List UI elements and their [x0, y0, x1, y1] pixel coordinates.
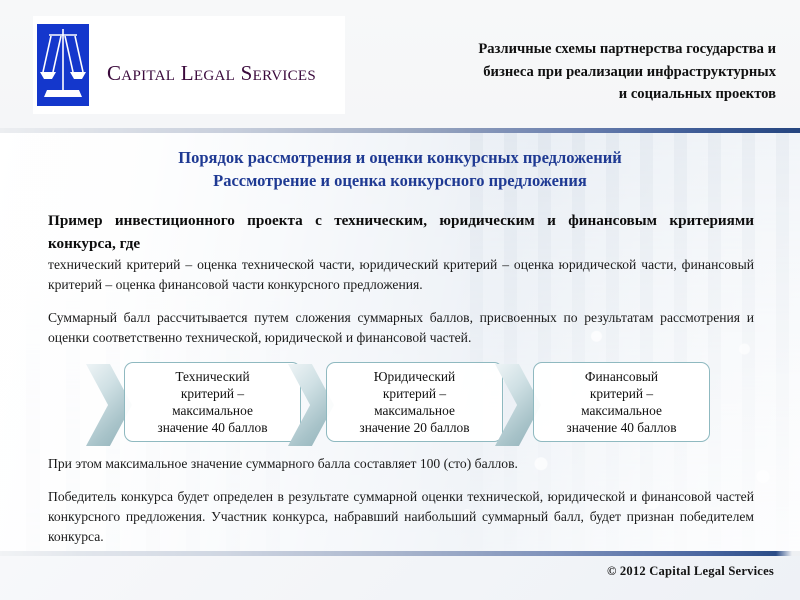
body-text-lower: При этом максимальное значение суммарног…: [48, 454, 754, 546]
criteria-technical-line-2: критерий –: [157, 385, 267, 402]
criteria-legal-line-3: максимальное: [359, 402, 469, 419]
header-subject-title: Различные схемы партнерства государства …: [384, 38, 776, 106]
criteria-legal-line-1: Юридический: [359, 368, 469, 385]
criteria-financial-line-4: значение 40 баллов: [566, 419, 676, 436]
criteria-box-legal-text: Юридический критерий – максимальное знач…: [351, 368, 477, 437]
criteria-financial-line-2: критерий –: [566, 385, 676, 402]
body-text-upper: Пример инвестиционного проекта с техниче…: [48, 210, 754, 347]
criteria-box-financial: Финансовый критерий – максимальное значе…: [533, 362, 710, 442]
scales-of-justice-icon: [37, 24, 89, 106]
criteria-technical-line-1: Технический: [157, 368, 267, 385]
page-title-line-1: Порядок рассмотрения и оценки конкурсных…: [0, 146, 800, 169]
criteria-flow-diagram: Технический критерий – максимальное знач…: [0, 362, 800, 448]
footer-divider: [0, 551, 800, 556]
copyright-notice: © 2012 Capital Legal Services: [607, 564, 774, 579]
header-title-line-2: бизнеса при реализации инфраструктурных: [384, 61, 776, 84]
header-title-line-1: Различные схемы партнерства государства …: [384, 38, 776, 61]
criteria-item-financial: Финансовый критерий – максимальное значе…: [495, 362, 710, 448]
criteria-technical-line-3: максимальное: [157, 402, 267, 419]
criteria-box-technical-text: Технический критерий – максимальное знач…: [149, 368, 275, 437]
paragraph-intro-detail: технический критерий – оценка техническо…: [48, 255, 754, 295]
header-divider: [0, 128, 800, 133]
criteria-item-legal: Юридический критерий – максимальное знач…: [288, 362, 503, 448]
company-logo: Capital Legal Services: [33, 16, 345, 114]
criteria-financial-line-3: максимальное: [566, 402, 676, 419]
criteria-financial-line-1: Финансовый: [566, 368, 676, 385]
paragraph-intro-bold: Пример инвестиционного проекта с техниче…: [48, 210, 754, 255]
criteria-legal-line-2: критерий –: [359, 385, 469, 402]
slide-canvas: Capital Legal Services Различные схемы п…: [0, 0, 800, 600]
criteria-item-technical: Технический критерий – максимальное знач…: [86, 362, 301, 448]
logo-wordmark: Capital Legal Services: [107, 61, 316, 86]
criteria-legal-line-4: значение 20 баллов: [359, 419, 469, 436]
paragraph-max-total: При этом максимальное значение суммарног…: [48, 454, 754, 474]
criteria-box-technical: Технический критерий – максимальное знач…: [124, 362, 301, 442]
paragraph-winner: Победитель конкурса будет определен в ре…: [48, 487, 754, 547]
criteria-technical-line-4: значение 40 баллов: [157, 419, 267, 436]
paragraph-sum-score: Суммарный балл рассчитывается путем слож…: [48, 308, 754, 348]
slide-header: Capital Legal Services Различные схемы п…: [0, 0, 800, 128]
criteria-box-financial-text: Финансовый критерий – максимальное значе…: [558, 368, 684, 437]
page-title-line-2: Рассмотрение и оценка конкурсного предло…: [0, 169, 800, 192]
page-title: Порядок рассмотрения и оценки конкурсных…: [0, 146, 800, 193]
header-title-line-3: и социальных проектов: [384, 83, 776, 106]
slide-footer: © 2012 Capital Legal Services: [0, 560, 800, 600]
criteria-box-legal: Юридический критерий – максимальное знач…: [326, 362, 503, 442]
